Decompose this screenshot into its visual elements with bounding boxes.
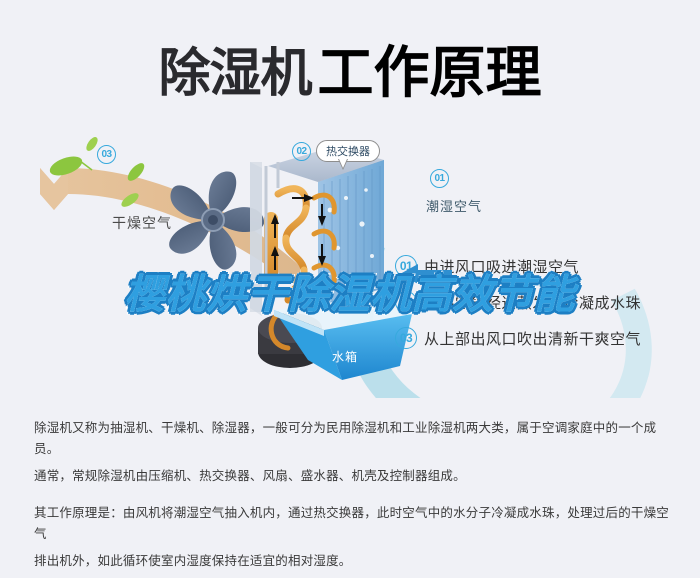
heat-exchanger-callout: 02 热交换器 bbox=[292, 140, 380, 162]
legend-badge-02: 02 bbox=[395, 291, 417, 313]
infographic-page: 除湿机工作原理 bbox=[0, 0, 700, 566]
page-title: 除湿机工作原理 bbox=[0, 28, 700, 109]
paragraph-1-line-2: 通常，常规除湿机由压缩机、热交换器、风扇、盛水器、机壳及控制器组成。 bbox=[34, 466, 670, 487]
diagram-step-03-badge: 03 bbox=[97, 145, 116, 164]
legend-text-03: 从上部出风口吹出清新干爽空气 bbox=[424, 328, 641, 349]
diagram-step-01-badge-wrap: 01 bbox=[430, 168, 449, 188]
intake-arrow-icon bbox=[398, 262, 454, 286]
paragraph-1-line-1: 除湿机又称为抽湿机、干燥机、除湿器，一般可分为民用除湿机和工业除湿机两大类，属于… bbox=[34, 418, 670, 460]
bubble-tail-icon bbox=[338, 159, 348, 170]
body-copy: 除湿机又称为抽湿机、干燥机、除湿器，一般可分为民用除湿机和工业除湿机两大类，属于… bbox=[34, 418, 670, 578]
diagram-step-01-badge: 01 bbox=[430, 169, 449, 188]
heat-exchanger-bubble: 热交换器 bbox=[316, 140, 380, 162]
diagram-stage: 03 干燥空气 bbox=[0, 118, 700, 398]
diagram-step-03-badge-wrap: 03 bbox=[97, 144, 116, 164]
diagram-step-02-badge: 02 bbox=[292, 142, 311, 161]
page-title-part1: 除湿机 bbox=[158, 45, 311, 103]
legend-item: 03 从上部出风口吹出清新干爽空气 bbox=[395, 327, 641, 349]
water-tank-label: 水箱 bbox=[332, 348, 358, 365]
paragraph-2-line-2: 排出机外，如此循环使室内湿度保持在适宜的相对湿度。 bbox=[34, 551, 670, 572]
wet-air-label: 潮湿空气 bbox=[426, 196, 482, 215]
paragraph-2-line-1: 其工作原理是：由风机将潮湿空气抽入机内，通过热交换器，此时空气中的水分子冷凝成水… bbox=[34, 503, 670, 545]
legend-badge-03: 03 bbox=[395, 327, 417, 349]
page-title-part2: 工作原理 bbox=[318, 41, 542, 104]
legend-item: 02 潮湿空气经过蒸发器冷凝成水珠 bbox=[395, 291, 641, 313]
legend-text-02: 潮湿空气经过蒸发器冷凝成水珠 bbox=[424, 292, 641, 313]
